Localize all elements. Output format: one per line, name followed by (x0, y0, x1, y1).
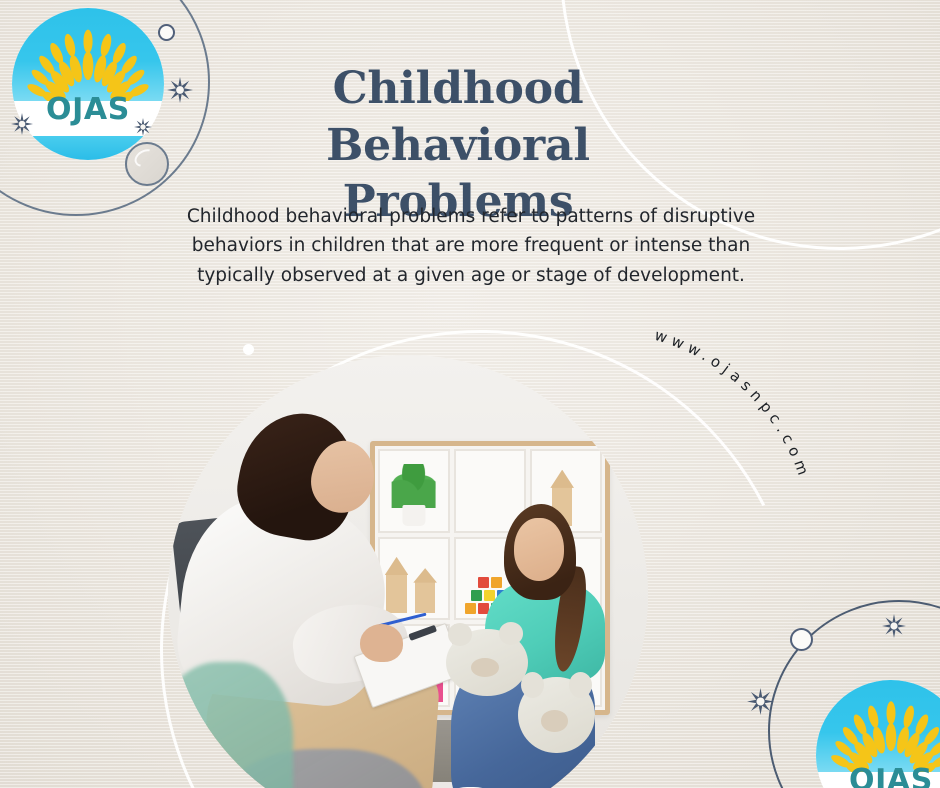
gloss-bubble (125, 142, 169, 186)
photo-circle (168, 355, 648, 788)
sparkle-icon-5 (882, 614, 906, 638)
website-url: www.ojasnpc.com (652, 326, 813, 482)
teddy-bear (446, 629, 528, 696)
sparkle-icon-1 (167, 77, 193, 103)
wooden-house-toy (386, 573, 406, 613)
shelf-cell (378, 449, 450, 532)
teddy-bear (518, 677, 595, 754)
ring-node-top (158, 24, 175, 41)
sparkle-icon-4 (747, 688, 774, 715)
bubble-highlight (132, 146, 159, 170)
ojas-logo-bottom-right: OJAS (816, 680, 940, 788)
logo-wordmark: OJAS (816, 766, 940, 788)
potted-plant-leaves (391, 464, 436, 508)
girl-face (514, 518, 564, 580)
foreground-blur-green (168, 662, 293, 788)
body-paragraph: Childhood behavioral problems refer to p… (186, 202, 756, 292)
shelf-cell (378, 537, 450, 620)
wooden-house-toy (415, 581, 435, 613)
ring-node-bottom (790, 628, 813, 651)
accent-dot (243, 344, 254, 355)
therapy-session-photo (168, 355, 648, 788)
poster-canvas: OJAS Childhood Behavioral Problems Child… (0, 0, 940, 788)
therapist-hand (360, 624, 403, 662)
sparkle-icon-3 (134, 118, 152, 136)
sparkle-icon-2 (11, 113, 33, 135)
ojas-logo-top-left: OJAS (12, 8, 164, 160)
potted-plant-pot (402, 505, 425, 526)
